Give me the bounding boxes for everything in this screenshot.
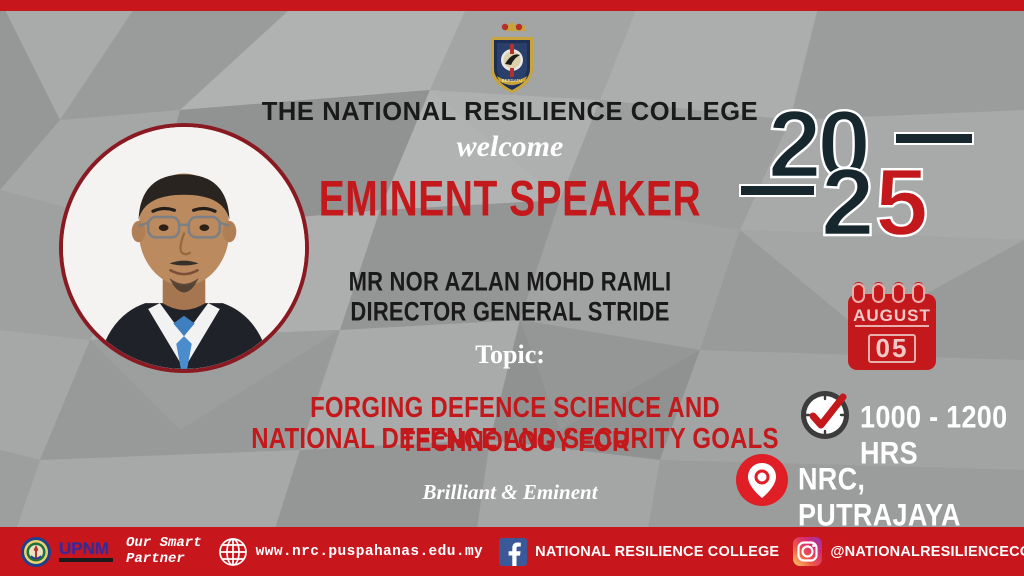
upnm-partner-text: Our Smart Partner — [126, 536, 202, 567]
svg-text:2: 2 — [821, 149, 874, 256]
topic-line-2: NATIONAL DEFENCE AND SECURITY GOALS — [245, 423, 785, 457]
event-venue: NRC, PUTRAJAYA — [798, 462, 1024, 533]
svg-text:5: 5 — [875, 149, 928, 256]
instagram-handle[interactable]: @NATIONALRESILIENCECOLLEGE — [830, 544, 1024, 560]
globe-icon — [218, 537, 248, 567]
topic-label: Topic: — [285, 340, 735, 370]
map-pin-icon — [735, 453, 789, 507]
tagline: Brilliant & Eminent — [330, 480, 690, 505]
facebook-icon[interactable] — [499, 538, 527, 566]
speaker-portrait — [59, 123, 309, 373]
national-resilience-college-crest: BERSATU — [481, 22, 543, 96]
event-time: 1000 - 1200 HRS — [860, 400, 1024, 471]
eminent-speaker-heading: EMINENT SPEAKER — [255, 172, 765, 228]
upnm-crest-logo — [20, 536, 52, 568]
partner-line-2: Partner — [126, 552, 202, 568]
event-poster: BERSATU THE NATIONAL RESILIENCE COLLEGE … — [0, 0, 1024, 576]
year-2025-graphic: 20 2 5 — [735, 85, 1020, 265]
calendar-month: AUGUST — [853, 306, 931, 325]
instagram-icon[interactable] — [793, 537, 822, 566]
facebook-handle[interactable]: NATIONAL RESILIENCE COLLEGE — [535, 544, 779, 560]
speaker-name: MR NOR AZLAN MOHD RAMLI — [255, 266, 765, 298]
svg-text:BERSATU: BERSATU — [502, 78, 522, 83]
welcome-text: welcome — [285, 130, 735, 164]
speaker-role: DIRECTOR GENERAL STRIDE — [255, 296, 765, 328]
top-red-bar — [0, 0, 1024, 11]
website-url[interactable]: www.nrc.puspahanas.edu.my — [256, 544, 484, 560]
calendar-icon: AUGUST 05 — [845, 278, 945, 373]
footer-bar: UPNM Our Smart Partner www.nrc.puspahana… — [0, 527, 1024, 576]
upnm-wordmark: UPNM — [58, 537, 116, 567]
svg-text:UPNM: UPNM — [59, 539, 109, 558]
page-title: THE NATIONAL RESILIENCE COLLEGE — [255, 98, 765, 127]
clock-check-icon — [797, 387, 853, 443]
calendar-day: 05 — [876, 333, 909, 363]
partner-line-1: Our Smart — [126, 536, 202, 552]
